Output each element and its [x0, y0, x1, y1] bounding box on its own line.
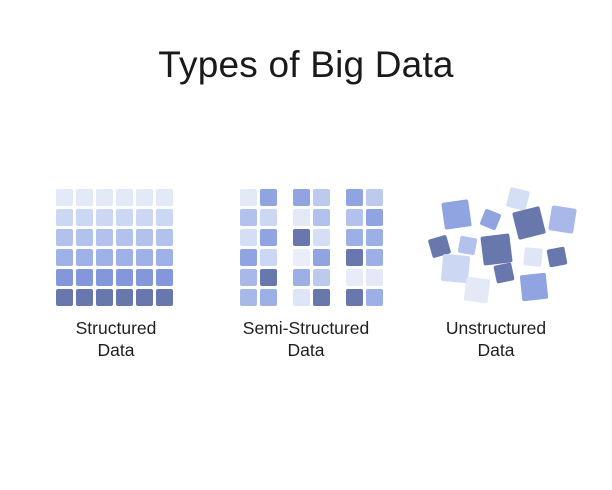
grid-cell [240, 269, 257, 286]
grid-cell [240, 289, 257, 306]
grid-cell [313, 189, 330, 206]
caption-structured-line2: Data [21, 339, 211, 361]
grid-cell [293, 269, 310, 286]
caption-semi-structured-line1: Semi-Structured [243, 318, 369, 338]
structured-data-grid [49, 185, 184, 307]
grid-cell [293, 189, 310, 206]
grid-cell [260, 189, 277, 206]
grid-cell [260, 229, 277, 246]
grid-cell [366, 209, 383, 226]
grid-cell [260, 289, 277, 306]
grid-cell [346, 269, 363, 286]
scatter-square [546, 246, 567, 267]
grid-cell [76, 229, 93, 246]
caption-unstructured-line2: Data [401, 339, 591, 361]
grid-cell [313, 289, 330, 306]
grid-cell [156, 189, 173, 206]
panel-semi-structured: Semi-Structured Data [211, 185, 401, 362]
grid-cell [260, 249, 277, 266]
grid-cell [346, 249, 363, 266]
grid-cell [136, 269, 153, 286]
grid-cell [346, 209, 363, 226]
grid-cell [240, 189, 257, 206]
grid-cell [116, 269, 133, 286]
grid-cell [293, 209, 310, 226]
grid-cell [156, 249, 173, 266]
grid-cell [136, 189, 153, 206]
scatter-square [512, 206, 546, 240]
infographic-canvas: Types of Big Data Structured Data Semi-S… [0, 0, 612, 490]
unstructured-data-scatter [429, 185, 564, 307]
caption-structured-line1: Structured [76, 318, 157, 338]
grid-cell [313, 209, 330, 226]
grid-cell [366, 249, 383, 266]
grid-cell [116, 249, 133, 266]
grid-cell [56, 189, 73, 206]
grid-cell [313, 229, 330, 246]
grid-cell [136, 209, 153, 226]
panels-row: Structured Data Semi-Structured Data Uns… [0, 185, 612, 370]
grid-cell [116, 289, 133, 306]
grid-cell [116, 189, 133, 206]
scatter-square [519, 273, 548, 302]
scatter-square [505, 187, 529, 211]
grid-cell [346, 189, 363, 206]
caption-unstructured-line1: Unstructured [446, 318, 546, 338]
grid-cell [76, 269, 93, 286]
grid-cell [136, 249, 153, 266]
grid-cell [313, 269, 330, 286]
scatter-square [480, 233, 512, 265]
grid-cell [293, 289, 310, 306]
page-title: Types of Big Data [0, 44, 612, 87]
grid-cell [366, 289, 383, 306]
grid-cell [240, 229, 257, 246]
scatter-square [479, 208, 501, 230]
scatter-square [523, 247, 543, 267]
scatter-square [457, 236, 477, 256]
caption-unstructured: Unstructured Data [401, 317, 591, 362]
grid-cell [96, 249, 113, 266]
scatter-square [493, 262, 514, 283]
grid-cell [346, 289, 363, 306]
panel-unstructured: Unstructured Data [401, 185, 591, 362]
grid-cell [240, 209, 257, 226]
grid-cell [346, 229, 363, 246]
grid-cell [293, 249, 310, 266]
grid-cell [96, 209, 113, 226]
grid-cell [116, 209, 133, 226]
grid-cell [56, 269, 73, 286]
grid-cell [260, 209, 277, 226]
grid-cell [56, 249, 73, 266]
grid-cell [240, 249, 257, 266]
grid-cell [76, 289, 93, 306]
grid-cell [116, 229, 133, 246]
grid-cell [136, 289, 153, 306]
grid-cell [366, 269, 383, 286]
caption-semi-structured-line2: Data [211, 339, 401, 361]
semi-structured-data-grid [239, 185, 374, 307]
grid-cell [136, 229, 153, 246]
grid-cell [76, 209, 93, 226]
scatter-square [441, 199, 471, 229]
grid-cell [366, 229, 383, 246]
grid-cell [56, 289, 73, 306]
grid-cell [96, 229, 113, 246]
grid-cell [76, 249, 93, 266]
grid-cell [156, 269, 173, 286]
grid-cell [156, 229, 173, 246]
grid-cell [293, 229, 310, 246]
grid-cell [96, 289, 113, 306]
scatter-square [463, 277, 490, 304]
grid-cell [156, 209, 173, 226]
grid-cell [56, 229, 73, 246]
grid-cell [76, 189, 93, 206]
grid-cell [96, 269, 113, 286]
grid-cell [260, 269, 277, 286]
grid-cell [156, 289, 173, 306]
scatter-square [548, 205, 577, 234]
grid-cell [366, 189, 383, 206]
caption-structured: Structured Data [21, 317, 211, 362]
grid-cell [56, 209, 73, 226]
grid-cell [96, 189, 113, 206]
panel-structured: Structured Data [21, 185, 211, 362]
caption-semi-structured: Semi-Structured Data [211, 317, 401, 362]
grid-cell [313, 249, 330, 266]
